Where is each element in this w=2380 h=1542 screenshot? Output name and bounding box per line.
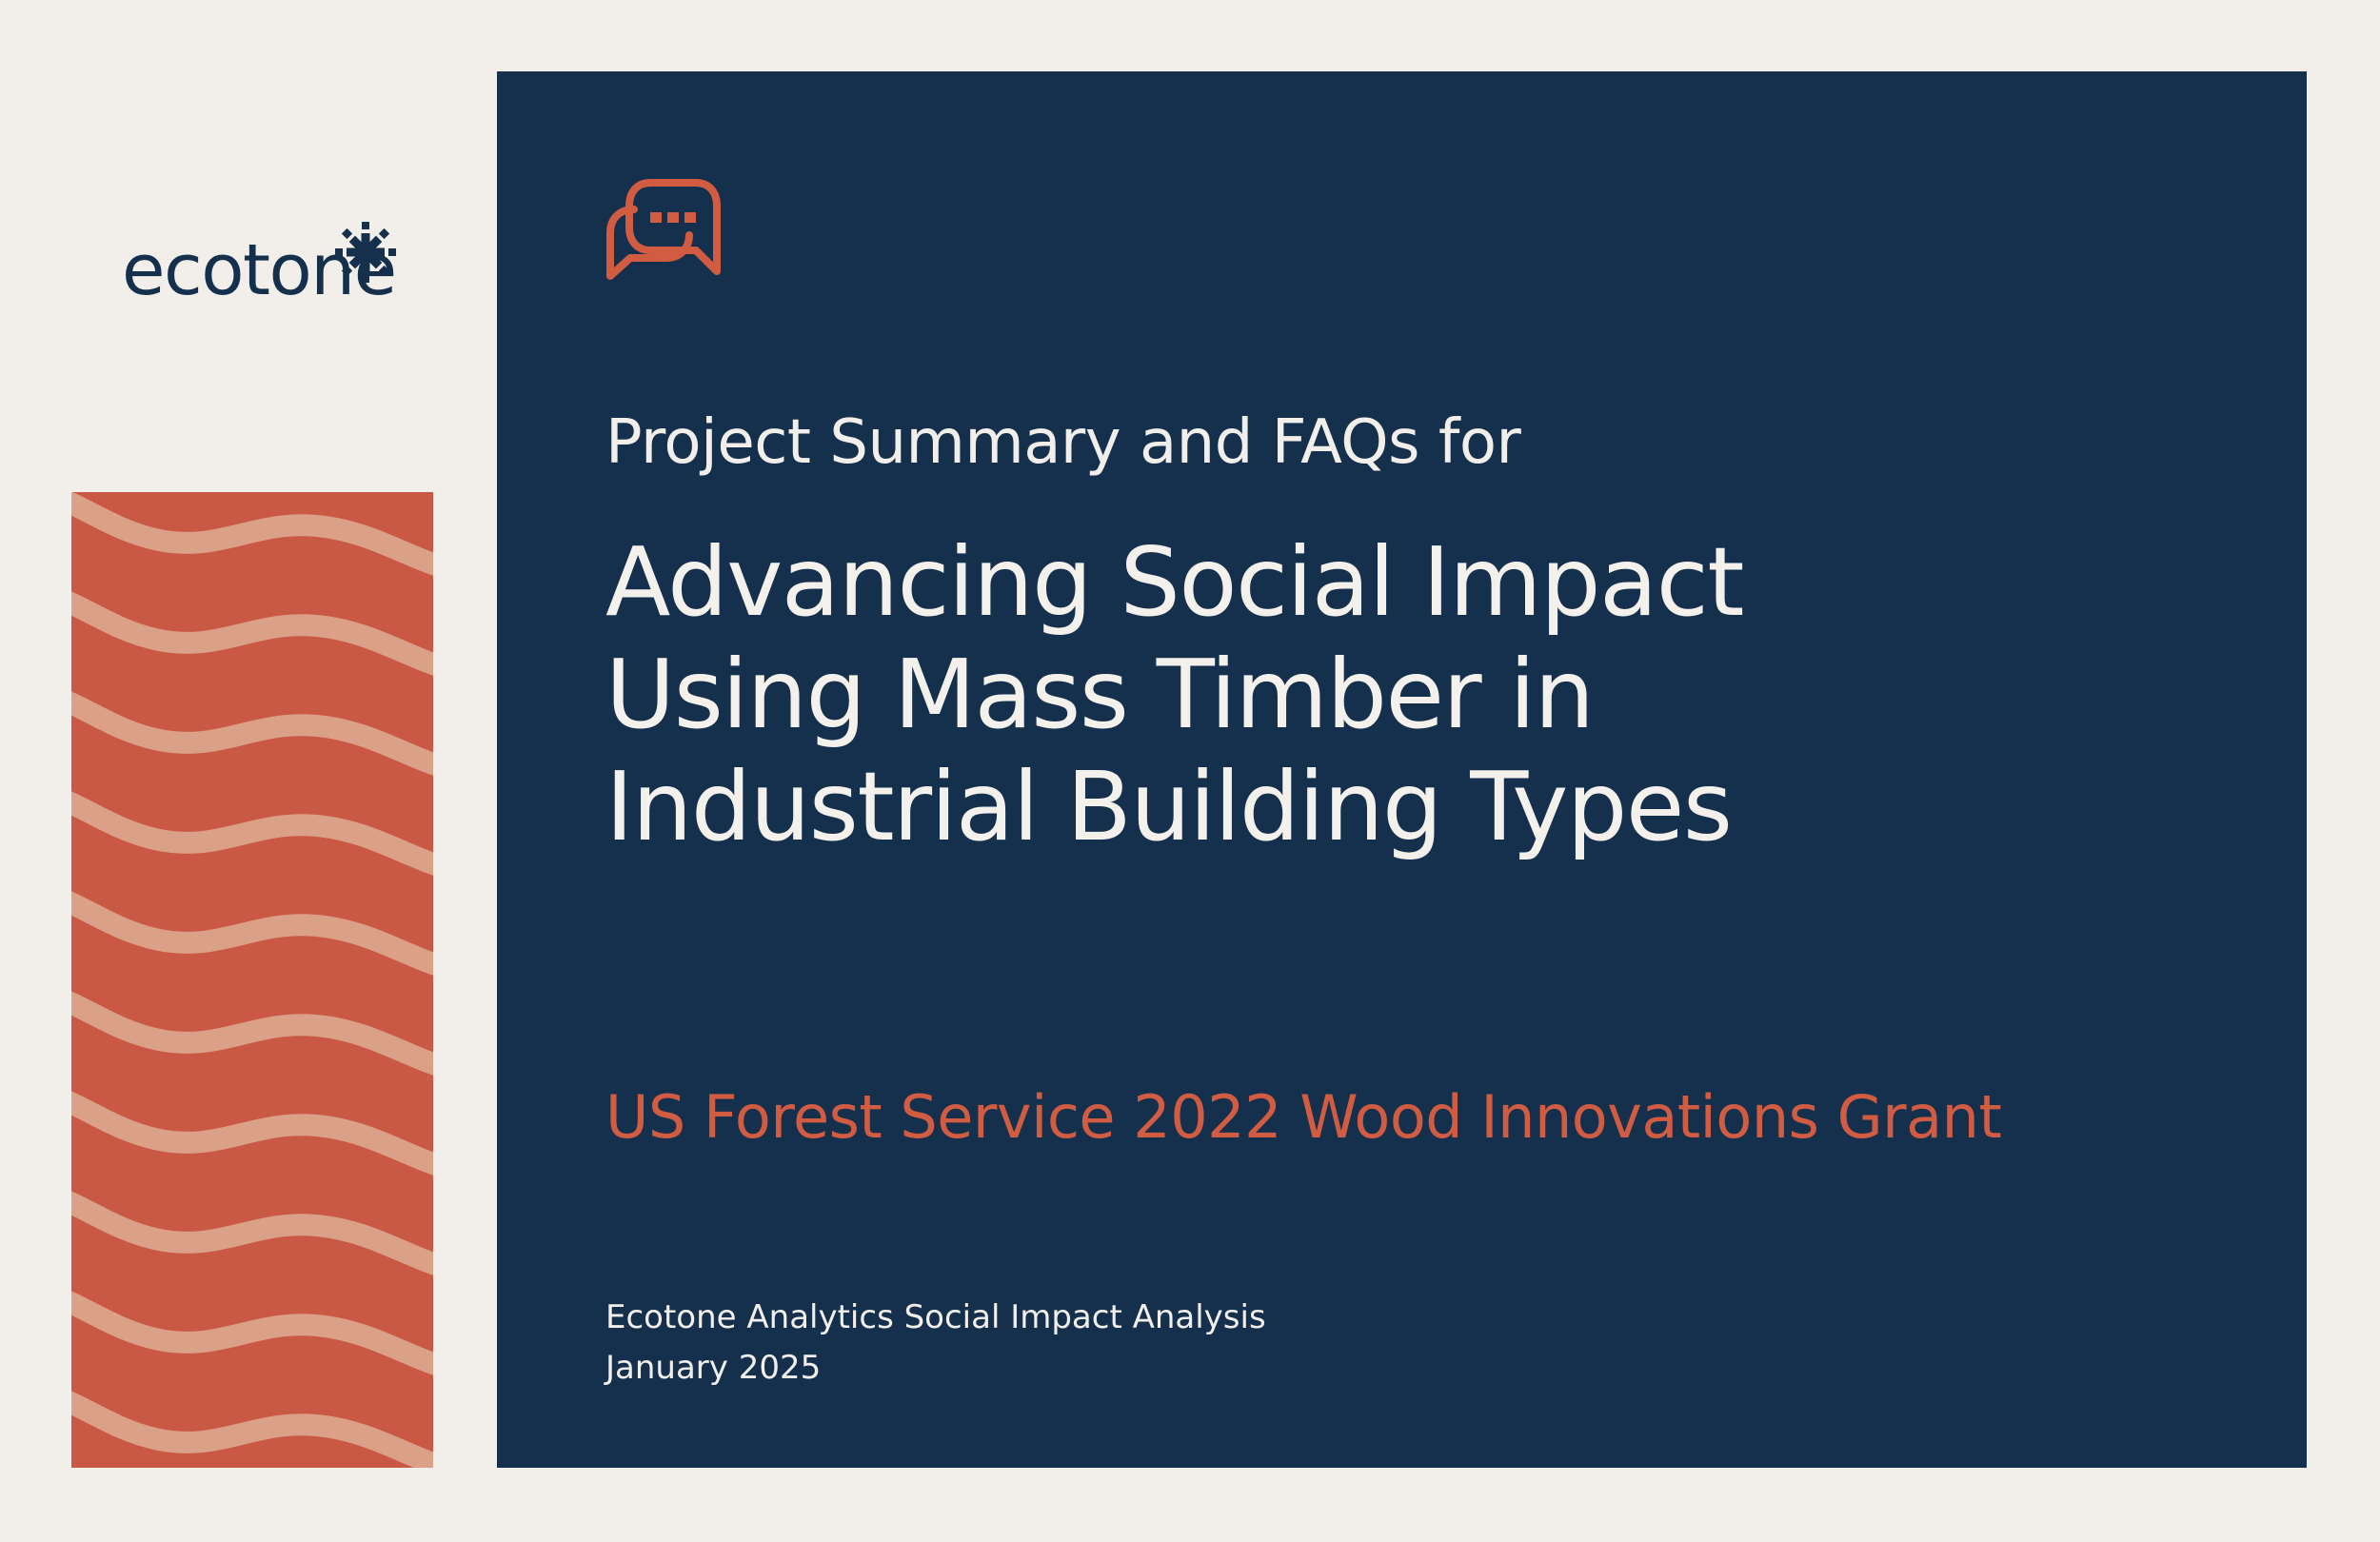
cover-footer: Ecotone Analytics Social Impact Analysis… — [605, 1293, 1266, 1393]
diagonal-wave-pattern — [71, 492, 433, 1468]
starburst-icon — [335, 222, 396, 283]
cover-page: ecotone — [0, 0, 2380, 1542]
page-title-line-3: Industrial Building Types — [605, 751, 2167, 863]
cover-footer-date: January 2025 — [605, 1343, 1266, 1394]
hero-panel: Project Summary and FAQs for Advancing S… — [497, 71, 2307, 1468]
page-title-line-2: Using Mass Timber in — [605, 639, 2167, 751]
cover-eyebrow: Project Summary and FAQs for — [605, 409, 1520, 478]
brand-logo: ecotone — [122, 222, 426, 307]
page-title-line-1: Advancing Social Impact — [605, 526, 2167, 639]
page-title: Advancing Social Impact Using Mass Timbe… — [605, 526, 2167, 863]
speech-bubbles-icon — [605, 178, 722, 285]
cover-footer-org: Ecotone Analytics Social Impact Analysis — [605, 1293, 1266, 1343]
cover-subtitle: US Forest Service 2022 Wood Innovations … — [605, 1085, 2001, 1150]
